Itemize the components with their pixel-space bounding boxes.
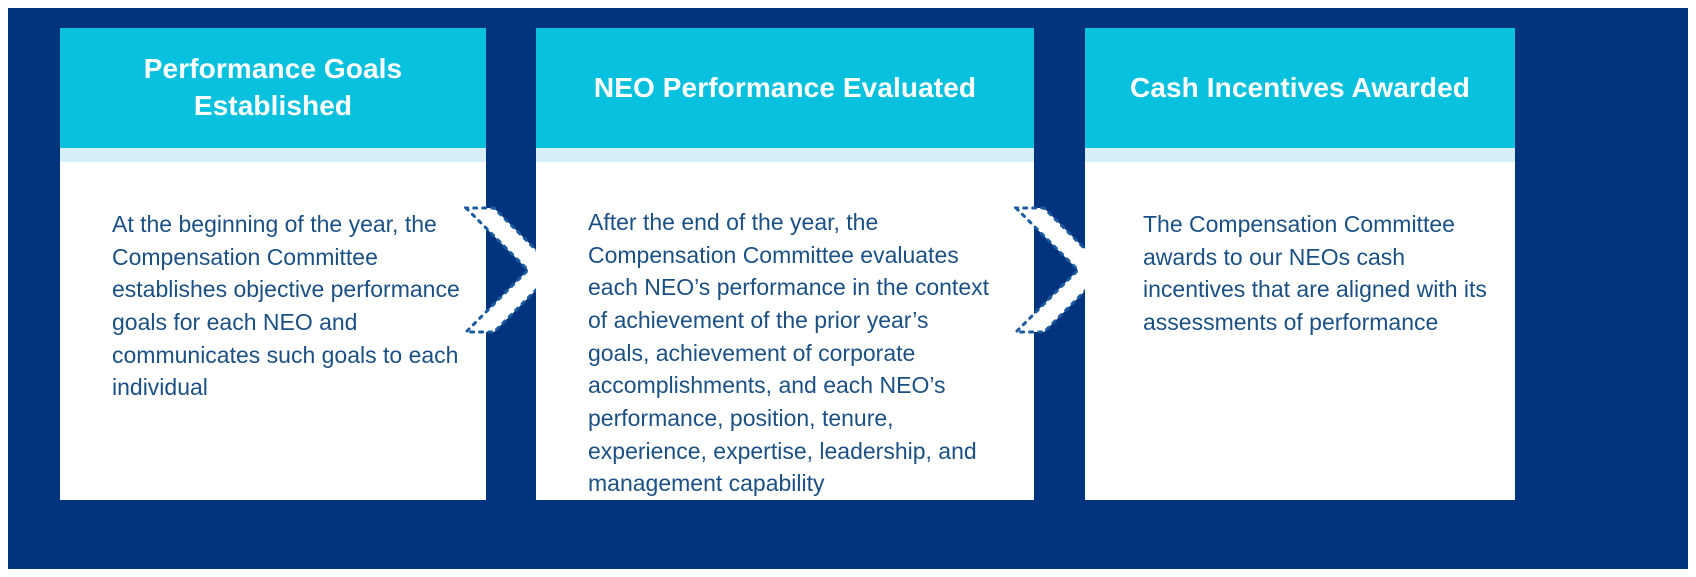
step-2-header: NEO Performance Evaluated [536,28,1034,148]
step-3-body: The Compensation Committee awards to our… [1085,162,1515,500]
process-step-card-3: Cash Incentives Awarded The Compensation… [1085,28,1515,500]
process-flow-diagram: Performance Goals Established At the beg… [0,0,1696,577]
step-2-body: After the end of the year, the Compensat… [536,162,1034,500]
step-3-header: Cash Incentives Awarded [1085,28,1515,148]
step-1-description: At the beginning of the year, the Compen… [112,208,462,404]
step-1-header: Performance Goals Established [60,28,486,148]
step-1-body: At the beginning of the year, the Compen… [60,162,486,500]
process-step-card-1: Performance Goals Established At the beg… [60,28,486,500]
step-1-title: Performance Goals Established [74,51,472,125]
step-3-divider [1085,148,1515,162]
step-2-title: NEO Performance Evaluated [594,70,976,107]
step-2-description: After the end of the year, the Compensat… [588,206,994,500]
step-3-title: Cash Incentives Awarded [1130,70,1470,107]
diagram-stage: Performance Goals Established At the beg… [0,0,1696,577]
step-1-divider [60,148,486,162]
step-3-description: The Compensation Committee awards to our… [1143,208,1491,339]
process-step-card-2: NEO Performance Evaluated After the end … [536,28,1034,500]
step-2-divider [536,148,1034,162]
